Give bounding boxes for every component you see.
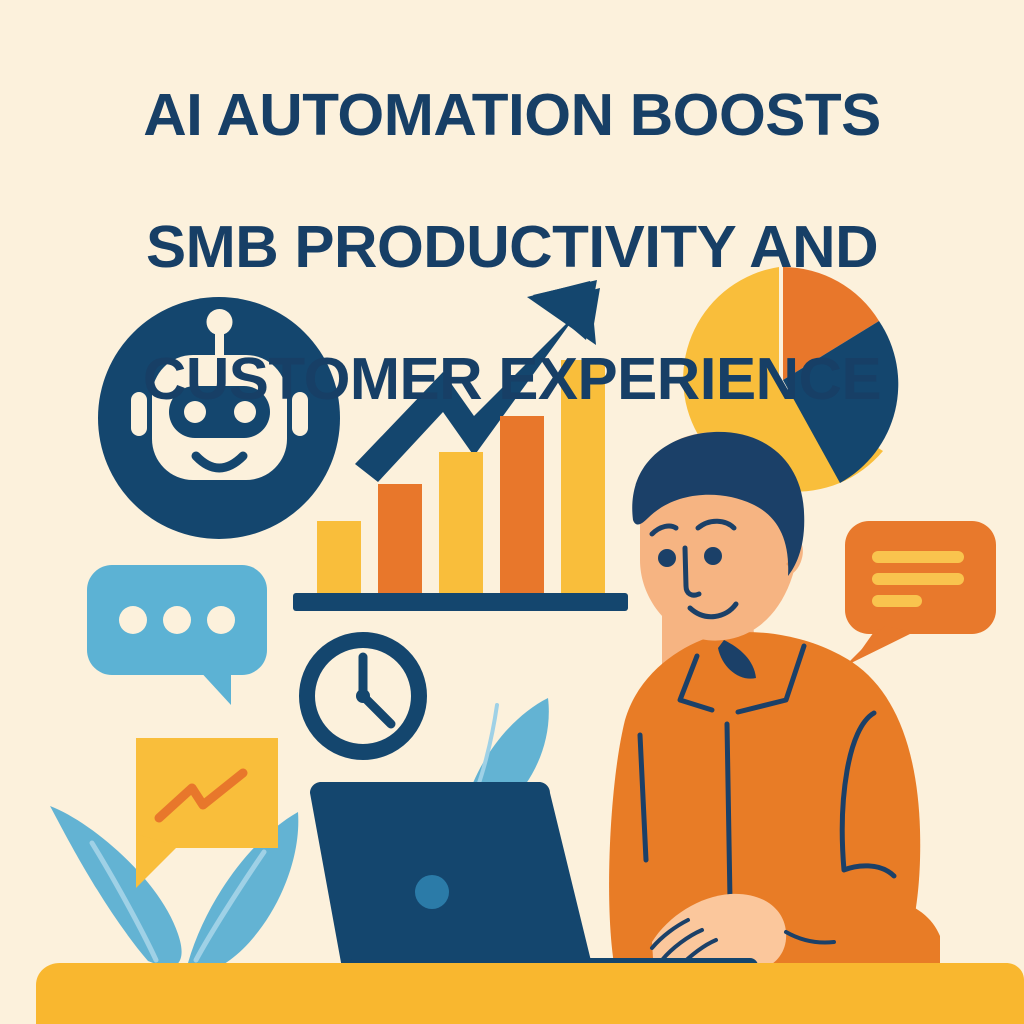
bar-chart-baseline [293,593,628,611]
chat-line-3 [872,595,922,607]
robot-ear-right [292,392,308,436]
person-eye-left [658,549,676,567]
robot-eye-right [234,401,256,423]
robot-avatar-icon [98,297,340,539]
robot-ear-left [131,392,147,436]
desk-surface [36,963,1024,1024]
robot-antenna-ball [207,309,233,335]
chat-dot-1 [119,606,147,634]
chat-line-2 [872,573,964,585]
chat-line-1 [872,551,964,563]
bar-4 [500,416,544,593]
robot-eye-left [184,401,206,423]
poster-canvas: AI AUTOMATION BOOSTS SMB PRODUCTIVITY AN… [0,0,1024,1024]
chat-dot-3 [207,606,235,634]
person-shirt-placket [727,724,730,900]
illustration-artwork [0,0,1024,1024]
bar-1 [317,521,361,593]
chat-bubble-trend-body [136,738,278,848]
bar-5 [561,360,605,593]
bar-3 [439,452,483,593]
bar-2 [378,484,422,593]
laptop-screen-back [310,782,592,977]
laptop-logo-icon [415,875,449,909]
clock-center-pin [356,689,370,703]
chat-dot-2 [163,606,191,634]
person-eye-right [704,547,722,565]
desk-top [36,963,1024,1024]
